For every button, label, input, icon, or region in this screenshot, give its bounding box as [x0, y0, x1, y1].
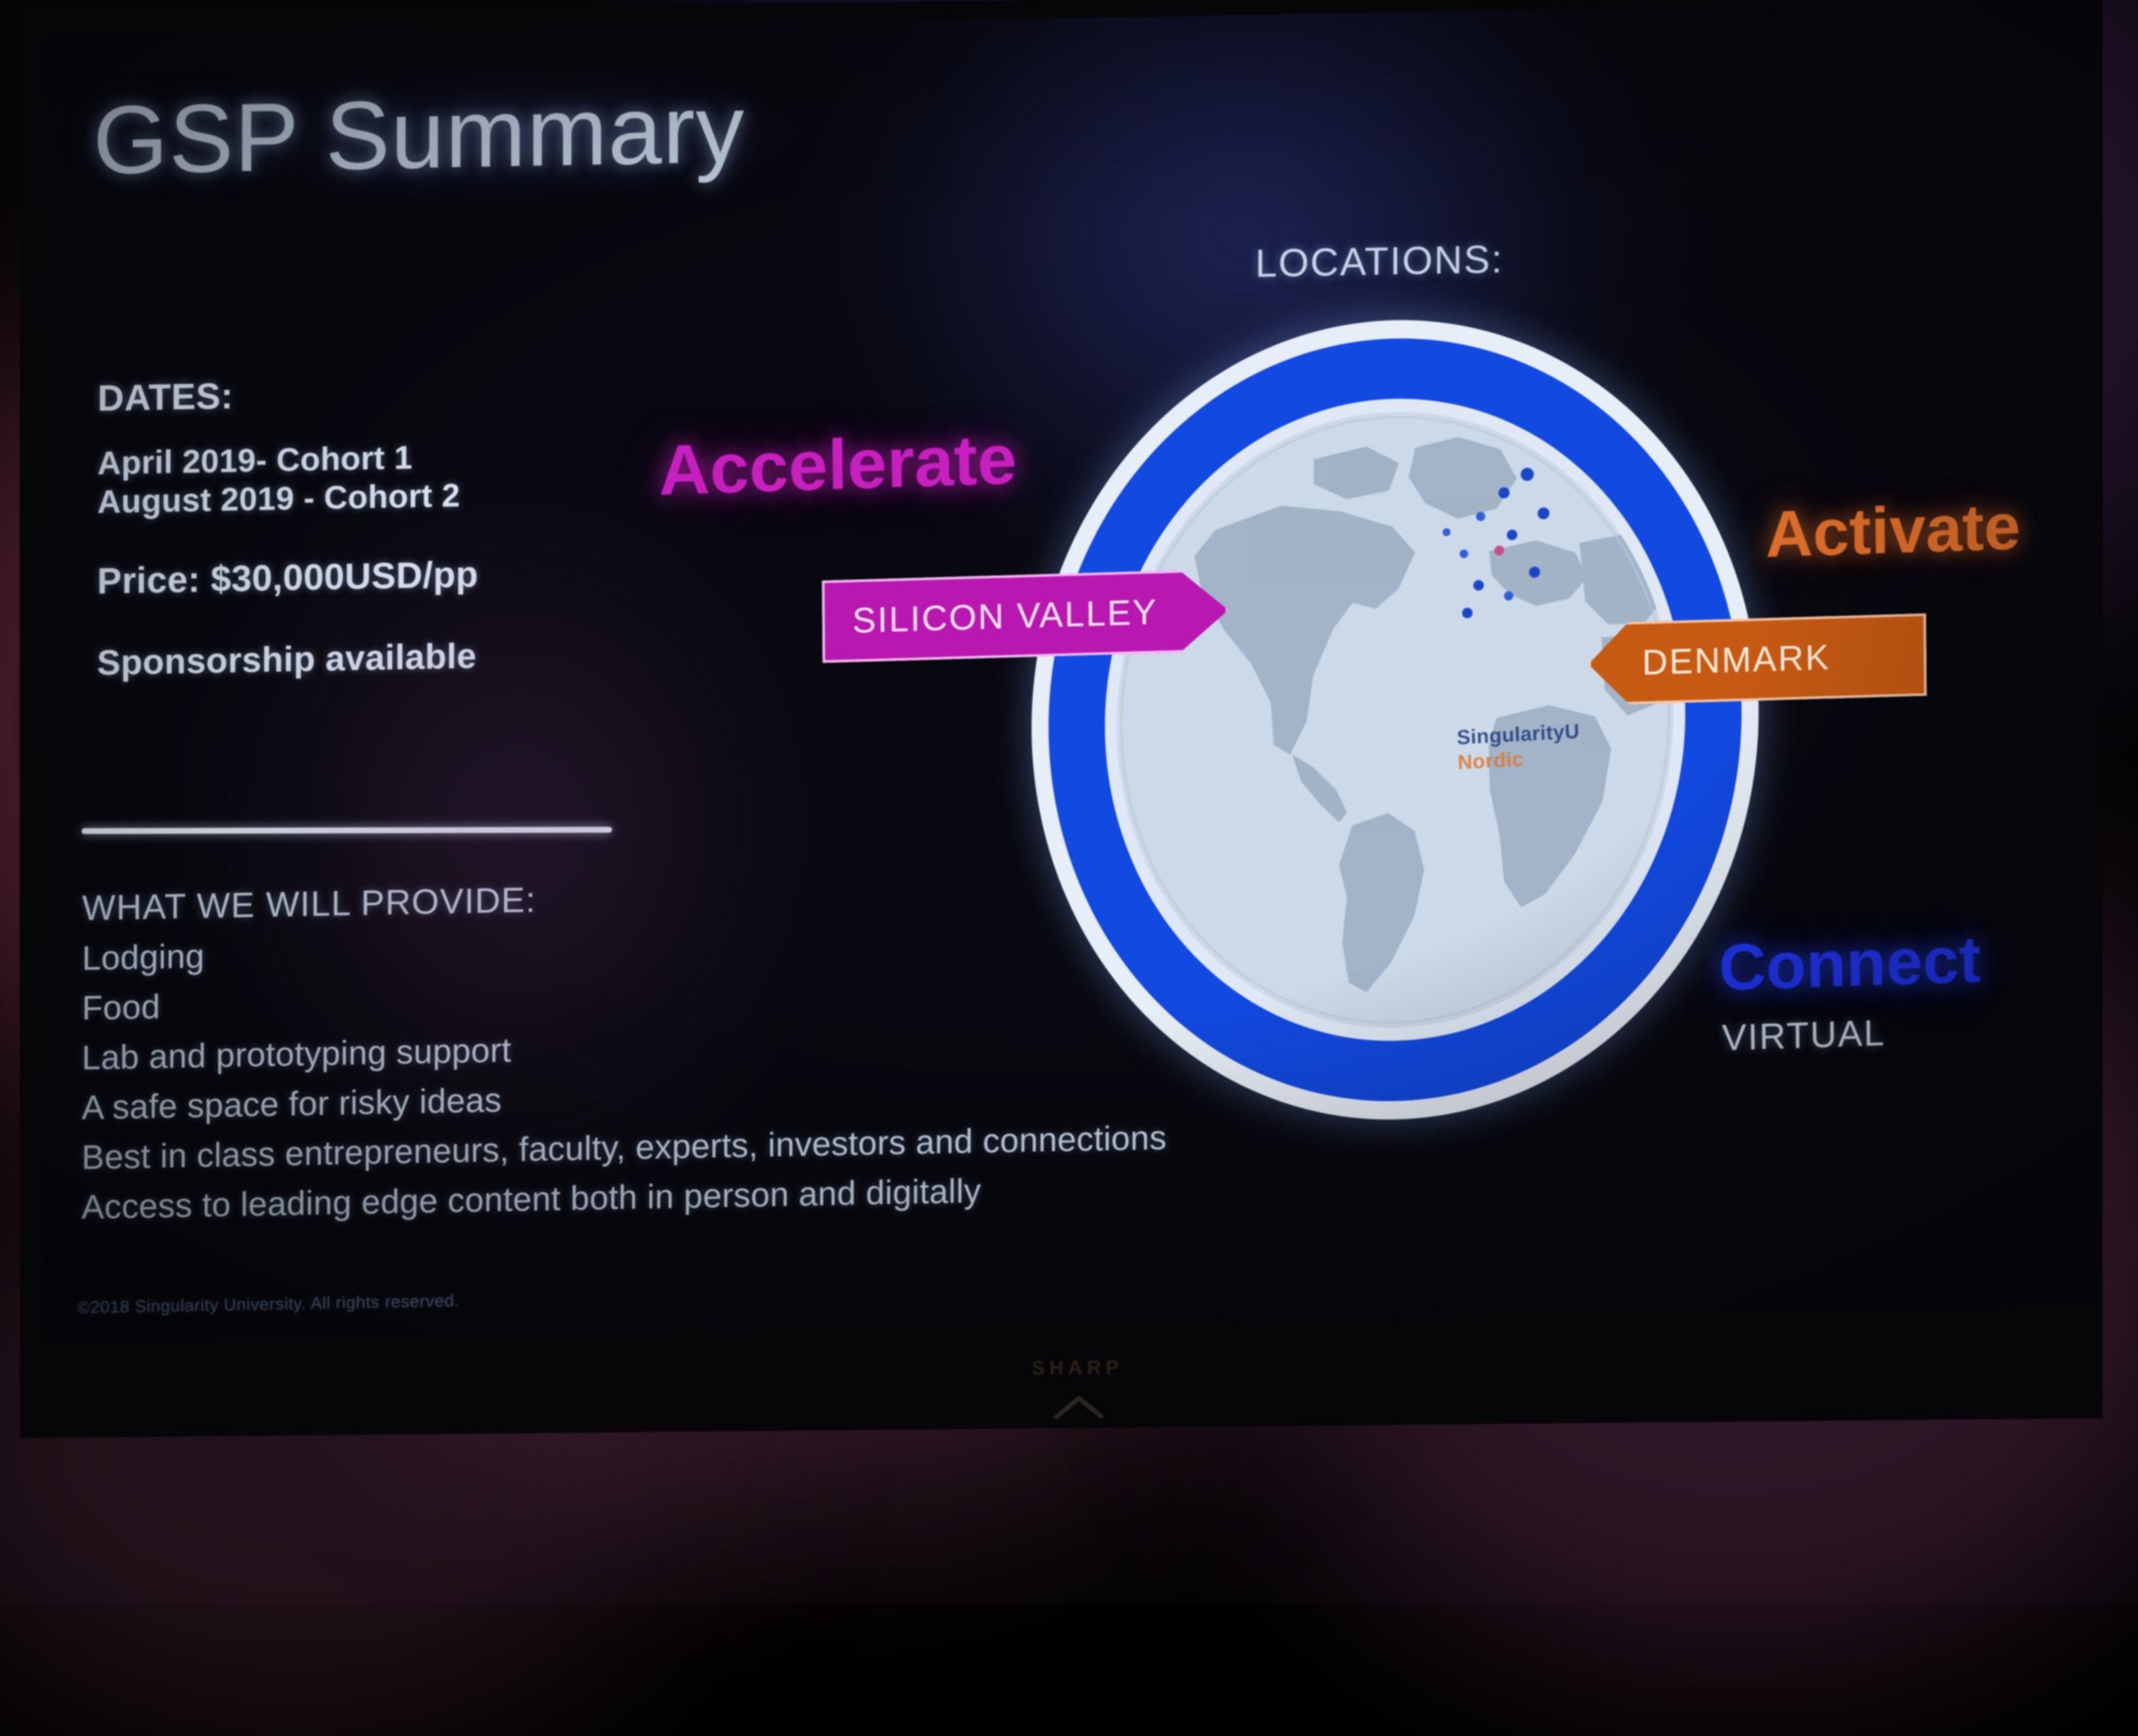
presentation-slide: GSP Summary DATES: April 2019- Cohort 1 … — [45, 0, 2097, 1341]
word-activate: Activate — [1765, 489, 2021, 573]
word-connect: Connect — [1718, 922, 1981, 1006]
globe-marker-label: SingularityU Nordic — [1457, 719, 1581, 774]
virtual-label: VIRTUAL — [1721, 1011, 1885, 1059]
banner-denmark[interactable]: DENMARK — [1588, 613, 1926, 706]
globe-map-face — [1116, 407, 1674, 1033]
banner-label: SILICON VALLEY — [852, 592, 1158, 641]
page-title: GSP Summary — [93, 73, 745, 197]
word-accelerate: Accelerate — [658, 418, 1017, 512]
chevron-up-icon — [1053, 1393, 1104, 1420]
display-bezel: GSP Summary DATES: April 2019- Cohort 1 … — [20, 0, 2103, 1438]
map-dot — [1473, 580, 1484, 590]
list-item: Access to leading edge content both in p… — [81, 1165, 1326, 1228]
section-divider — [82, 827, 612, 834]
banner-silicon-valley[interactable]: SILICON VALLEY — [822, 569, 1229, 663]
banner-label: DENMARK — [1642, 637, 1831, 683]
map-dot — [1459, 549, 1468, 557]
locations-heading: LOCATIONS: — [1255, 236, 1503, 286]
globe-graphic — [1031, 314, 1760, 1126]
display-brand-logo: SHARP — [1032, 1357, 1123, 1380]
map-dot — [1462, 607, 1472, 618]
map-dot — [1529, 566, 1540, 577]
world-map-icon — [1116, 407, 1674, 1033]
map-dot — [1499, 487, 1510, 498]
map-dot — [1443, 528, 1451, 536]
copyright-notice: ©2018 Singularity University. All rights… — [77, 1291, 459, 1318]
